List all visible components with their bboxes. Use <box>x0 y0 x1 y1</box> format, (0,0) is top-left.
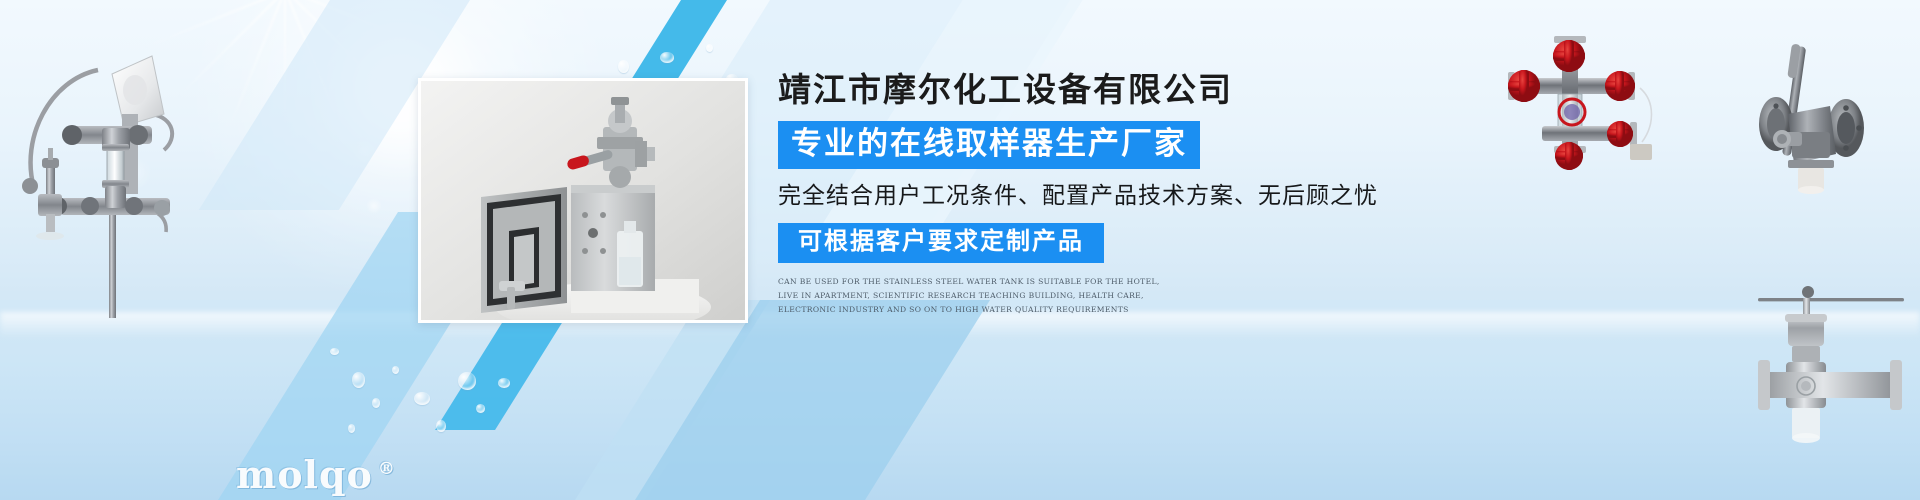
product-left-sampler <box>2 18 222 318</box>
headline-badge: 专业的在线取样器生产厂家 <box>778 121 1200 169</box>
watermark-text: molqo <box>236 452 373 497</box>
company-name: 靖江市摩尔化工设备有限公司 <box>778 72 1418 108</box>
subheadline: 完全结合用户工况条件、配置产品技术方案、无后顾之忧 <box>778 182 1418 210</box>
water-droplet <box>330 348 339 355</box>
water-droplet <box>348 424 355 433</box>
water-droplet <box>372 398 380 408</box>
registered-mark-icon: ® <box>378 459 396 479</box>
marketing-copy: 靖江市摩尔化工设备有限公司 专业的在线取样器生产厂家 完全结合用户工况条件、配置… <box>778 72 1418 317</box>
product-lever-valve <box>1730 28 1900 228</box>
water-droplet <box>706 44 713 52</box>
water-droplet <box>392 366 399 374</box>
water-droplet <box>618 60 629 73</box>
water-droplet <box>476 404 485 413</box>
product-bottom-valve <box>1758 276 1918 456</box>
water-droplet <box>436 420 446 432</box>
water-droplet <box>458 372 476 390</box>
product-cross-valve <box>1490 30 1690 170</box>
promotional-banner: 靖江市摩尔化工设备有限公司 专业的在线取样器生产厂家 完全结合用户工况条件、配置… <box>0 0 1920 500</box>
english-description: CAN BE USED FOR THE STAINLESS STEEL WATE… <box>778 275 1178 317</box>
watermark-logo: molqo® <box>236 452 396 497</box>
custom-order-badge: 可根据客户要求定制产品 <box>778 223 1104 264</box>
lens-flare-spot <box>366 198 382 214</box>
water-droplet <box>352 372 365 388</box>
product-photo <box>418 78 748 323</box>
water-droplet <box>660 52 674 63</box>
water-droplet <box>498 378 510 388</box>
water-droplet <box>414 392 430 405</box>
